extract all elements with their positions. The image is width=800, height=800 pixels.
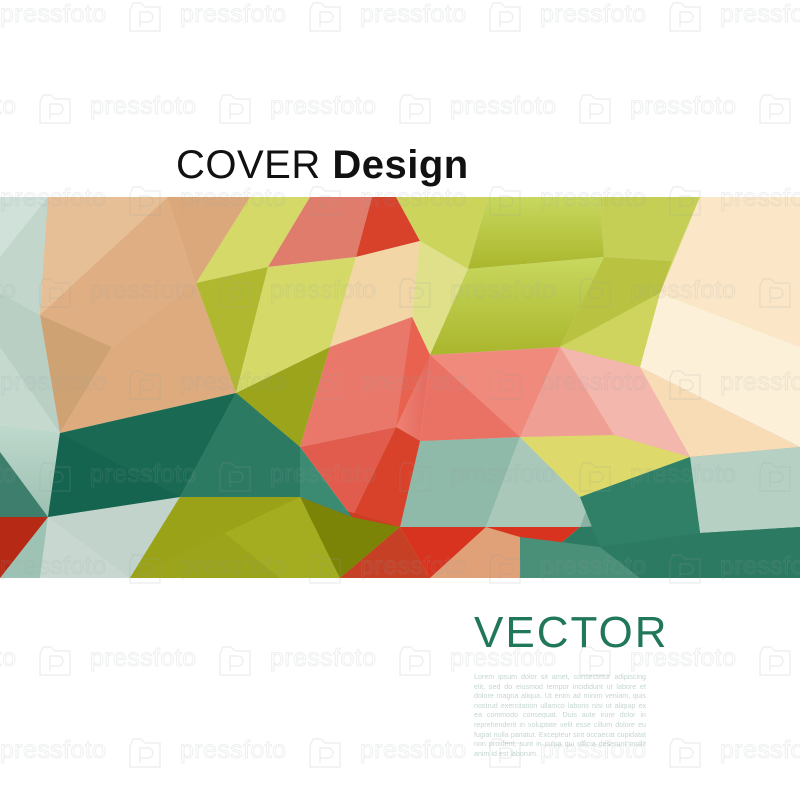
page-title-bold-word: Design	[332, 143, 468, 187]
watermark-text: pressfoto	[360, 736, 466, 765]
watermark-logo	[578, 93, 612, 130]
cover-design-artboard: COVER Design	[0, 0, 800, 800]
watermark-logo	[218, 645, 252, 682]
pressfoto-logo-icon	[38, 93, 72, 125]
pressfoto-logo-icon	[128, 1, 162, 33]
low-poly-triangles	[0, 197, 800, 578]
watermark-text: pressfoto	[0, 644, 16, 673]
watermark-text: pressfoto	[630, 92, 736, 121]
pressfoto-logo-icon	[128, 737, 162, 769]
pressfoto-logo-icon	[218, 93, 252, 125]
pressfoto-logo-icon	[218, 645, 252, 677]
watermark-text: pressfoto	[0, 0, 106, 29]
watermark-text: pressfoto	[720, 0, 800, 29]
watermark-text: pressfoto	[450, 92, 556, 121]
watermark-logo	[758, 93, 792, 130]
page-title: COVER Design	[176, 142, 469, 188]
watermark-text: pressfoto	[180, 0, 286, 29]
pressfoto-logo-icon	[398, 645, 432, 677]
watermark-logo	[668, 737, 702, 774]
watermark-text: pressfoto	[0, 92, 16, 121]
watermark-text: pressfoto	[0, 736, 106, 765]
watermark-logo	[128, 1, 162, 38]
vector-title: VECTOR	[474, 608, 669, 658]
pressfoto-logo-icon	[398, 93, 432, 125]
watermark-text: pressfoto	[360, 0, 466, 29]
low-poly-banner	[0, 197, 800, 578]
pressfoto-logo-icon	[488, 1, 522, 33]
watermark-logo	[38, 93, 72, 130]
watermark-text: pressfoto	[270, 92, 376, 121]
watermark-logo	[218, 93, 252, 130]
watermark-logo	[38, 645, 72, 682]
watermark-logo	[668, 1, 702, 38]
watermark-text: pressfoto	[540, 0, 646, 29]
vector-body-text: Lorem ipsum dolor sit amet, consectetur …	[474, 673, 646, 759]
pressfoto-logo-icon	[308, 737, 342, 769]
pressfoto-logo-icon	[668, 1, 702, 33]
watermark-text: pressfoto	[270, 644, 376, 673]
watermark-logo	[308, 1, 342, 38]
pressfoto-logo-icon	[308, 1, 342, 33]
pressfoto-logo-icon	[758, 93, 792, 125]
page-title-light-word: COVER	[176, 143, 321, 187]
pressfoto-logo-icon	[38, 645, 72, 677]
watermark-logo	[128, 737, 162, 774]
pressfoto-logo-icon	[578, 93, 612, 125]
pressfoto-logo-icon	[668, 737, 702, 769]
watermark-logo	[758, 645, 792, 682]
watermark-logo	[308, 737, 342, 774]
watermark-logo	[398, 93, 432, 130]
watermark-text: pressfoto	[90, 92, 196, 121]
pressfoto-logo-icon	[758, 645, 792, 677]
watermark-text: pressfoto	[90, 644, 196, 673]
watermark-logo	[398, 645, 432, 682]
watermark-text: pressfoto	[180, 736, 286, 765]
watermark-logo	[488, 1, 522, 38]
watermark-text: pressfoto	[720, 736, 800, 765]
